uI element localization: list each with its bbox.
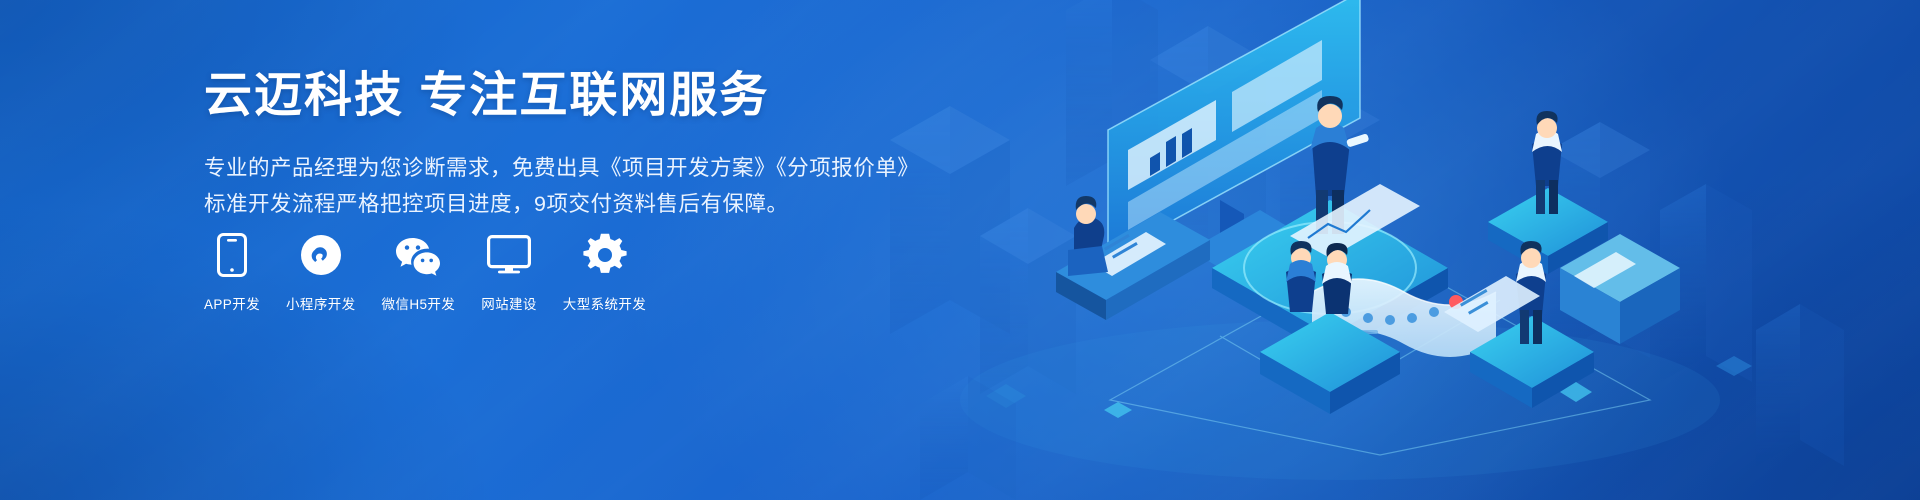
service-list: APP开发 小程序开发	[204, 232, 646, 313]
page-title: 云迈科技 专注互联网服务	[204, 68, 924, 125]
service-label: 网站建设	[481, 293, 537, 313]
subtitle-line-1: 专业的产品经理为您诊断需求，免费出具《项目开发方案》《分项报价单》	[204, 151, 924, 185]
isometric-illustration	[860, 0, 1920, 500]
smartphone-icon	[217, 232, 247, 278]
service-item-wechat-h5[interactable]: 微信H5开发	[382, 232, 456, 313]
service-item-app[interactable]: APP开发	[204, 232, 260, 313]
monitor-icon	[487, 232, 531, 278]
service-item-large-system[interactable]: 大型系统开发	[563, 232, 646, 313]
service-label: 小程序开发	[286, 293, 356, 313]
service-label: 大型系统开发	[563, 293, 646, 313]
wechat-icon	[394, 232, 442, 278]
hero-text-block: 云迈科技 专注互联网服务 专业的产品经理为您诊断需求，免费出具《项目开发方案》《…	[204, 68, 924, 221]
subtitle-line-2: 标准开发流程严格把控项目进度，9项交付资料售后有保障。	[204, 187, 924, 221]
service-label: APP开发	[204, 293, 260, 313]
gear-icon	[583, 232, 627, 278]
service-label: 微信H5开发	[382, 293, 456, 313]
service-item-mini-program[interactable]: 小程序开发	[286, 232, 356, 313]
service-item-website[interactable]: 网站建设	[481, 232, 537, 313]
hero-banner: 云迈科技 专注互联网服务 专业的产品经理为您诊断需求，免费出具《项目开发方案》《…	[0, 0, 1920, 500]
mini-program-icon	[300, 232, 342, 278]
